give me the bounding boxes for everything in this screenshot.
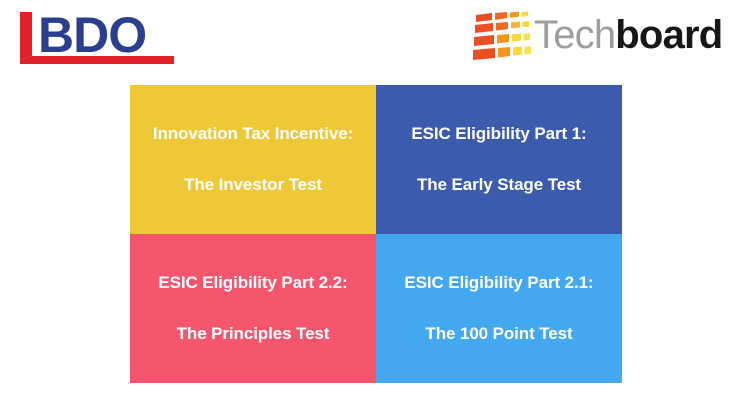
quadrant-innovation-tax-incentive[interactable]: Innovation Tax Incentive: The Investor T… <box>130 85 376 234</box>
techboard-logo: Techboard <box>470 6 742 64</box>
quadrant-grid: Innovation Tax Incentive: The Investor T… <box>130 85 622 383</box>
techboard-wordmark: Techboard <box>534 15 722 55</box>
quadrant-heading: ESIC Eligibility Part 2.2: <box>158 271 347 296</box>
quadrant-heading: ESIC Eligibility Part 1: <box>411 122 586 147</box>
quadrant-subheading: The Principles Test <box>177 322 330 347</box>
techboard-word-board: board <box>615 13 722 57</box>
svg-text:BDO: BDO <box>38 8 146 63</box>
quadrant-esic-eligibility-part-2-1[interactable]: ESIC Eligibility Part 2.1: The 100 Point… <box>376 234 622 383</box>
quadrant-subheading: The Early Stage Test <box>417 173 581 198</box>
quadrant-heading: Innovation Tax Incentive: <box>153 122 353 147</box>
techboard-grid-mark-icon <box>470 9 532 61</box>
techboard-word-tech: Tech <box>534 13 615 57</box>
quadrant-esic-eligibility-part-1[interactable]: ESIC Eligibility Part 1: The Early Stage… <box>376 85 622 234</box>
quadrant-esic-eligibility-part-2-2[interactable]: ESIC Eligibility Part 2.2: The Principle… <box>130 234 376 383</box>
quadrant-subheading: The 100 Point Test <box>425 322 572 347</box>
bdo-logo: BDO <box>14 8 184 66</box>
slide-canvas: BDO <box>0 0 750 410</box>
quadrant-heading: ESIC Eligibility Part 2.1: <box>404 271 593 296</box>
quadrant-subheading: The Investor Test <box>184 173 322 198</box>
bdo-logo-icon: BDO <box>14 8 184 66</box>
